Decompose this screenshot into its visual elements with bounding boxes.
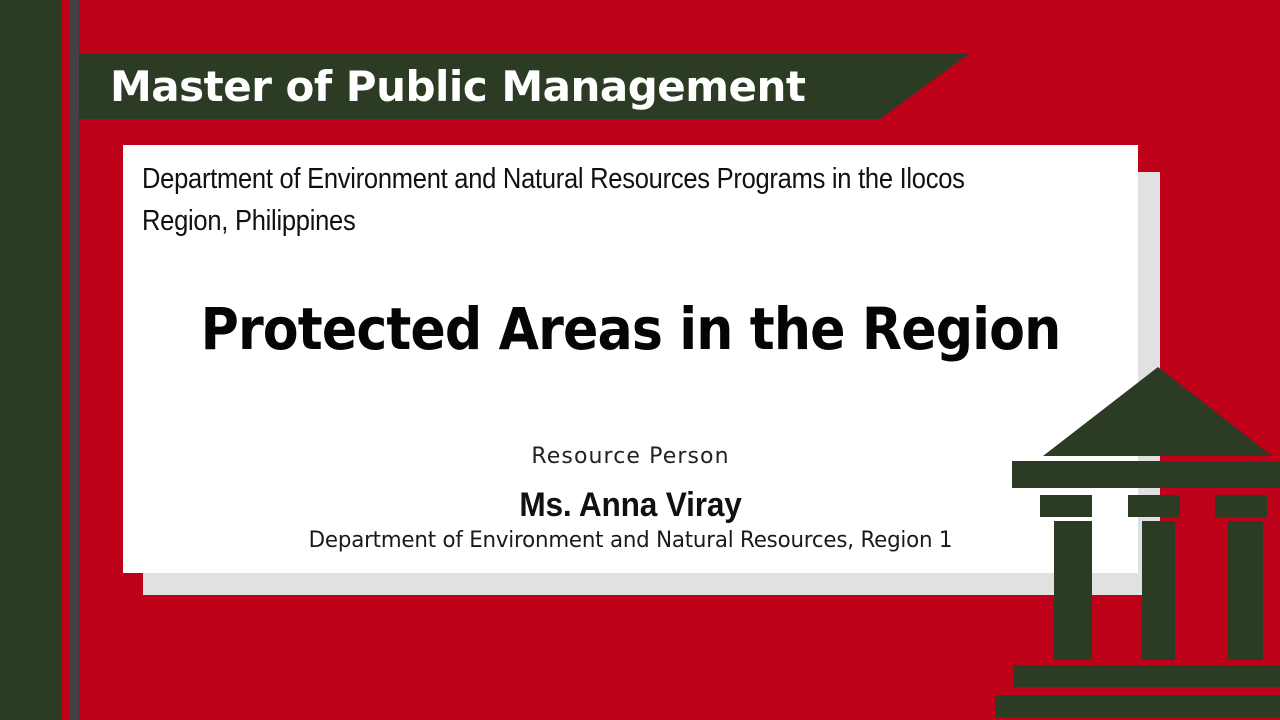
temple-capital-right — [1215, 495, 1267, 517]
left-gray-stripe — [70, 0, 79, 720]
left-green-band — [0, 0, 62, 720]
resource-person-affiliation: Department of Environment and Natural Re… — [138, 528, 1123, 553]
temple-base-upper — [1013, 665, 1280, 687]
resource-person-label: Resource Person — [123, 444, 1138, 469]
left-red-gap — [62, 0, 70, 720]
program-title: Master of Public Management — [110, 58, 930, 116]
slide-subtitle: Department of Environment and Natural Re… — [142, 158, 978, 242]
temple-base-lower — [995, 695, 1280, 717]
slide-main-title: Protected Areas in the Region — [174, 295, 1088, 363]
resource-person-name: Ms. Anna Viray — [159, 486, 1103, 525]
presentation-slide: Master of Public Management Department o… — [0, 0, 1280, 720]
temple-column-right — [1228, 521, 1263, 660]
